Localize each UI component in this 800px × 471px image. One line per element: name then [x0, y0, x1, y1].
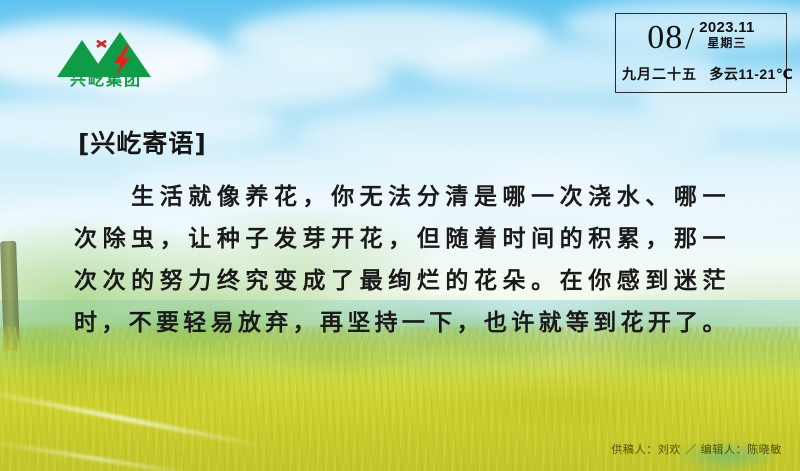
daily-quote-poster: 兴屹集团 08 / 2023.11 星期三 九月二十五 多云11-21℃ [兴屹… — [0, 0, 800, 471]
credits-line: 供稿人：刘欢 ／ 编辑人：陈晓敏 — [611, 441, 782, 457]
quote-line: 生活就像养花，你无法分清是哪一次浇水、哪一 — [74, 176, 726, 218]
page-title: [兴屹寄语] — [78, 124, 207, 160]
date-weather-card: 08 / 2023.11 星期三 九月二十五 多云11-21℃ — [615, 13, 787, 93]
quote-paragraph: 生活就像养花，你无法分清是哪一次浇水、哪一 次除虫，让种子发芽开花，但随着时间的… — [74, 176, 726, 344]
quote-line: 次除虫，让种子发芽开花，但随着时间的积累，那一 — [74, 218, 726, 260]
year-month: 2023.11 — [699, 19, 755, 36]
quote-line: 时，不要轻易放弃，再坚持一下，也许就等到花开了。 — [74, 302, 726, 344]
date-card-top-row: 08 / 2023.11 星期三 — [622, 16, 780, 64]
date-card-bottom-row: 九月二十五 多云11-21℃ — [622, 64, 780, 84]
company-logo[interactable]: 兴屹集团 — [50, 22, 160, 98]
quote-line: 次次的努力终究变成了最绚烂的花朵。在你感到迷茫 — [74, 260, 726, 302]
date-separator: / — [683, 16, 699, 60]
weather-info: 多云11-21℃ — [709, 66, 793, 82]
logo-text: 兴屹集团 — [52, 66, 160, 90]
day-number: 08 — [647, 16, 683, 60]
weekday: 星期三 — [707, 36, 746, 51]
lunar-date: 九月二十五 — [622, 66, 697, 82]
date-card-right-column: 2023.11 星期三 — [699, 16, 755, 51]
